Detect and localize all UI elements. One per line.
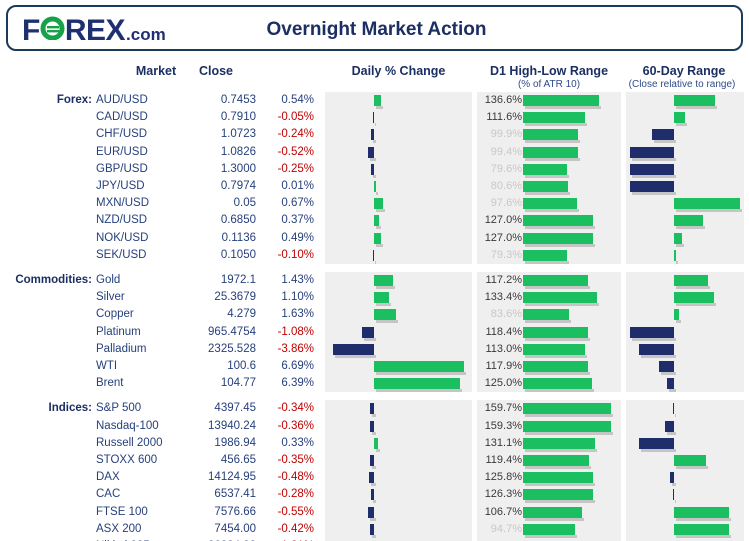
close-value: 1.0723	[176, 126, 256, 143]
d1-range-bar	[523, 198, 577, 209]
d1-range-label: 118.4%	[478, 324, 522, 341]
dashboard-page: F REX.com Overnight Market Action Market…	[0, 0, 749, 541]
d1-range-label: 99.9%	[478, 126, 522, 143]
daily-change-value: -0.28%	[258, 486, 314, 503]
close-value: 6537.41	[176, 486, 256, 503]
table-row: Palladium2325.528-3.86%113.0%	[0, 341, 749, 358]
table-row: WTI100.66.69%117.9%	[0, 358, 749, 375]
daily-change-bar	[374, 275, 393, 286]
close-value: 2325.528	[176, 341, 256, 358]
column-subheader-60day: (Close relative to range)	[612, 79, 749, 90]
d1-range-label: 97.6%	[478, 195, 522, 212]
close-value: 0.05	[176, 195, 256, 212]
sixty-day-range-bar	[667, 378, 674, 389]
sixty-day-range-bar	[674, 275, 708, 286]
d1-range-bar	[523, 309, 569, 320]
daily-change-bar	[374, 309, 396, 320]
close-value: 965.4754	[176, 324, 256, 341]
table-row: JPY/USD0.79740.01%80.6%	[0, 178, 749, 195]
sixty-day-range-bar	[639, 344, 674, 355]
daily-change-value: 0.33%	[258, 435, 314, 452]
sixty-day-range-bar	[674, 507, 729, 518]
d1-range-bar	[523, 112, 585, 123]
daily-change-value: 1.43%	[258, 272, 314, 289]
sixty-day-range-bar	[674, 250, 676, 261]
sixty-day-range-bar	[630, 181, 674, 192]
d1-range-label: 117.9%	[478, 358, 522, 375]
sixty-day-range-bar	[652, 129, 674, 140]
daily-change-value: 1.10%	[258, 289, 314, 306]
d1-range-bar	[523, 181, 568, 192]
daily-change-value: -0.55%	[258, 504, 314, 521]
daily-change-value: -0.42%	[258, 521, 314, 538]
daily-change-value: 0.67%	[258, 195, 314, 212]
close-value: 1972.1	[176, 272, 256, 289]
d1-range-bar	[523, 233, 593, 244]
close-value: 104.77	[176, 375, 256, 392]
sixty-day-range-bar	[674, 233, 682, 244]
table-row: MXN/USD0.050.67%97.6%	[0, 195, 749, 212]
daily-change-value: -0.34%	[258, 400, 314, 417]
table-row: GBP/USD1.3000-0.25%79.6%	[0, 161, 749, 178]
d1-range-label: 119.4%	[478, 452, 522, 469]
daily-change-bar	[374, 233, 381, 244]
daily-change-value: -0.52%	[258, 144, 314, 161]
d1-range-label: 133.4%	[478, 289, 522, 306]
daily-change-bar	[370, 403, 374, 414]
d1-range-label: 131.1%	[478, 435, 522, 452]
table-row: STOXX 600456.65-0.35%119.4%	[0, 452, 749, 469]
daily-change-value: -0.24%	[258, 126, 314, 143]
daily-change-value: 1.63%	[258, 306, 314, 323]
d1-range-label: 127.0%	[478, 212, 522, 229]
daily-change-bar	[370, 524, 375, 535]
daily-change-bar	[374, 215, 379, 226]
d1-range-label: 125.0%	[478, 375, 522, 392]
daily-change-bar	[369, 472, 374, 483]
sixty-day-range-bar	[659, 361, 674, 372]
daily-change-bar	[370, 421, 374, 432]
sixty-day-range-bar	[674, 455, 706, 466]
table-row: ASX 2007454.00-0.42%94.7%	[0, 521, 749, 538]
close-value: 0.1050	[176, 247, 256, 264]
daily-change-value: 6.69%	[258, 358, 314, 375]
daily-change-value: 0.37%	[258, 212, 314, 229]
sixty-day-range-bar	[665, 421, 674, 432]
d1-range-bar	[523, 215, 593, 226]
sixty-day-range-bar	[674, 112, 685, 123]
table-row: DAX14124.95-0.48%125.8%	[0, 469, 749, 486]
daily-change-value: -0.35%	[258, 452, 314, 469]
daily-change-value: 6.39%	[258, 375, 314, 392]
close-value: 100.6	[176, 358, 256, 375]
daily-change-bar	[374, 378, 460, 389]
page-title: Overnight Market Action	[8, 7, 745, 53]
sixty-day-range-bar	[630, 147, 674, 158]
d1-range-label: 99.4%	[478, 144, 522, 161]
group-label: Indices:	[0, 400, 92, 417]
d1-range-label: 79.3%	[478, 247, 522, 264]
table-row: FTSE 1007576.66-0.55%106.7%	[0, 504, 749, 521]
table-row: Brent104.776.39%125.0%	[0, 375, 749, 392]
sixty-day-range-bar	[639, 438, 674, 449]
table-row: EUR/USD1.0826-0.52%99.4%	[0, 144, 749, 161]
daily-change-value: -0.48%	[258, 469, 314, 486]
d1-range-bar	[523, 275, 588, 286]
column-header-daily: Daily % Change	[325, 64, 472, 78]
table-row: Platinum965.4754-1.08%118.4%	[0, 324, 749, 341]
d1-range-label: 79.6%	[478, 161, 522, 178]
header-bar: F REX.com Overnight Market Action	[6, 5, 743, 51]
d1-range-bar	[523, 344, 585, 355]
d1-range-label: 159.7%	[478, 400, 522, 417]
d1-range-bar	[523, 361, 588, 372]
close-value: 25.3679	[176, 289, 256, 306]
d1-range-bar	[523, 250, 567, 261]
daily-change-bar	[368, 507, 374, 518]
close-value: 7576.66	[176, 504, 256, 521]
close-value: 13940.24	[176, 418, 256, 435]
sixty-day-range-bar	[673, 403, 675, 414]
table-row: SEK/USD0.1050-0.10%79.3%	[0, 247, 749, 264]
sixty-day-range-bar	[674, 309, 679, 320]
d1-range-bar	[523, 507, 582, 518]
daily-change-bar	[368, 147, 374, 158]
d1-range-label: 117.2%	[478, 272, 522, 289]
daily-change-bar	[374, 292, 389, 303]
d1-range-bar	[523, 489, 593, 500]
sixty-day-range-bar	[674, 215, 703, 226]
d1-range-label: 127.0%	[478, 230, 522, 247]
daily-change-bar	[373, 112, 375, 123]
daily-change-bar	[374, 198, 383, 209]
daily-change-value: -3.86%	[258, 341, 314, 358]
sixty-day-range-bar	[674, 198, 740, 209]
table-row: NZD/USD0.68500.37%127.0%	[0, 212, 749, 229]
table-row: NOK/USD0.11360.49%127.0%	[0, 230, 749, 247]
sixty-day-range-bar	[674, 95, 715, 106]
daily-change-value: -1.08%	[258, 324, 314, 341]
daily-change-bar	[362, 327, 374, 338]
d1-range-bar	[523, 455, 589, 466]
d1-range-bar	[523, 129, 578, 140]
d1-range-bar	[523, 147, 578, 158]
group-label: Forex:	[0, 92, 92, 109]
table-row: Nasdaq-10013940.24-0.36%159.3%	[0, 418, 749, 435]
daily-change-bar	[374, 181, 376, 192]
table-row: Copper4.2791.63%83.6%	[0, 306, 749, 323]
d1-range-bar	[523, 164, 567, 175]
close-value: 1986.94	[176, 435, 256, 452]
d1-range-label: 136.6%	[478, 92, 522, 109]
daily-change-bar	[333, 344, 374, 355]
close-value: 1.3000	[176, 161, 256, 178]
table-row: CHF/USD1.0723-0.24%99.9%	[0, 126, 749, 143]
daily-change-bar	[371, 129, 374, 140]
column-header-d1: D1 High-Low Range	[477, 64, 621, 78]
d1-range-label: 83.6%	[478, 306, 522, 323]
column-header-60day: 60-Day Range	[620, 64, 748, 78]
column-subheader-d1: (% of ATR 10)	[477, 79, 621, 90]
sixty-day-range-bar	[630, 164, 674, 175]
close-value: 456.65	[176, 452, 256, 469]
group-label: Commodities:	[0, 272, 92, 289]
d1-range-label: 113.0%	[478, 341, 522, 358]
d1-range-bar	[523, 403, 611, 414]
table-row: Commodities:Gold1972.11.43%117.2%	[0, 272, 749, 289]
d1-range-bar	[523, 292, 597, 303]
close-value: 1.0826	[176, 144, 256, 161]
sixty-day-range-bar	[670, 472, 674, 483]
d1-range-bar	[523, 472, 593, 483]
sixty-day-range-bar	[674, 292, 714, 303]
daily-change-value: 0.01%	[258, 178, 314, 195]
daily-change-bar	[374, 361, 464, 372]
d1-range-bar	[523, 421, 611, 432]
d1-range-label: 159.3%	[478, 418, 522, 435]
daily-change-value: -0.25%	[258, 161, 314, 178]
column-header-close: Close	[176, 64, 256, 78]
d1-range-label: 106.7%	[478, 504, 522, 521]
close-value: 4.279	[176, 306, 256, 323]
daily-change-bar	[370, 455, 374, 466]
d1-range-label: 80.6%	[478, 178, 522, 195]
sixty-day-range-bar	[674, 524, 729, 535]
d1-range-label: 125.8%	[478, 469, 522, 486]
close-value: 14124.95	[176, 469, 256, 486]
daily-change-value: -0.36%	[258, 418, 314, 435]
sixty-day-range-bar	[673, 489, 675, 500]
d1-range-bar	[523, 438, 595, 449]
daily-change-bar	[371, 489, 374, 500]
d1-range-bar	[523, 524, 575, 535]
d1-range-bar	[523, 95, 599, 106]
daily-change-value: 0.54%	[258, 92, 314, 109]
table-row: Silver25.36791.10%133.4%	[0, 289, 749, 306]
daily-change-value: -0.10%	[258, 247, 314, 264]
close-value: 0.6850	[176, 212, 256, 229]
daily-change-value: -0.05%	[258, 109, 314, 126]
close-value: 0.7453	[176, 92, 256, 109]
sixty-day-range-bar	[630, 327, 674, 338]
close-value: 0.7974	[176, 178, 256, 195]
d1-range-label: 94.7%	[478, 521, 522, 538]
daily-change-bar	[373, 250, 375, 261]
table-row: CAD/USD0.7910-0.05%111.6%	[0, 109, 749, 126]
close-value: 4397.45	[176, 400, 256, 417]
table-row: Russell 20001986.940.33%131.1%	[0, 435, 749, 452]
close-value: 0.1136	[176, 230, 256, 247]
daily-change-bar	[374, 95, 381, 106]
close-value: 7454.00	[176, 521, 256, 538]
table-row: Indices:S&P 5004397.45-0.34%159.7%	[0, 400, 749, 417]
d1-range-bar	[523, 378, 592, 389]
table-row: Forex:AUD/USD0.74530.54%136.6%	[0, 92, 749, 109]
daily-change-value: 0.49%	[258, 230, 314, 247]
daily-change-bar	[371, 164, 374, 175]
d1-range-label: 126.3%	[478, 486, 522, 503]
d1-range-bar	[523, 327, 588, 338]
daily-change-bar	[374, 438, 378, 449]
d1-range-label: 111.6%	[478, 109, 522, 126]
table-row: CAC6537.41-0.28%126.3%	[0, 486, 749, 503]
close-value: 0.7910	[176, 109, 256, 126]
